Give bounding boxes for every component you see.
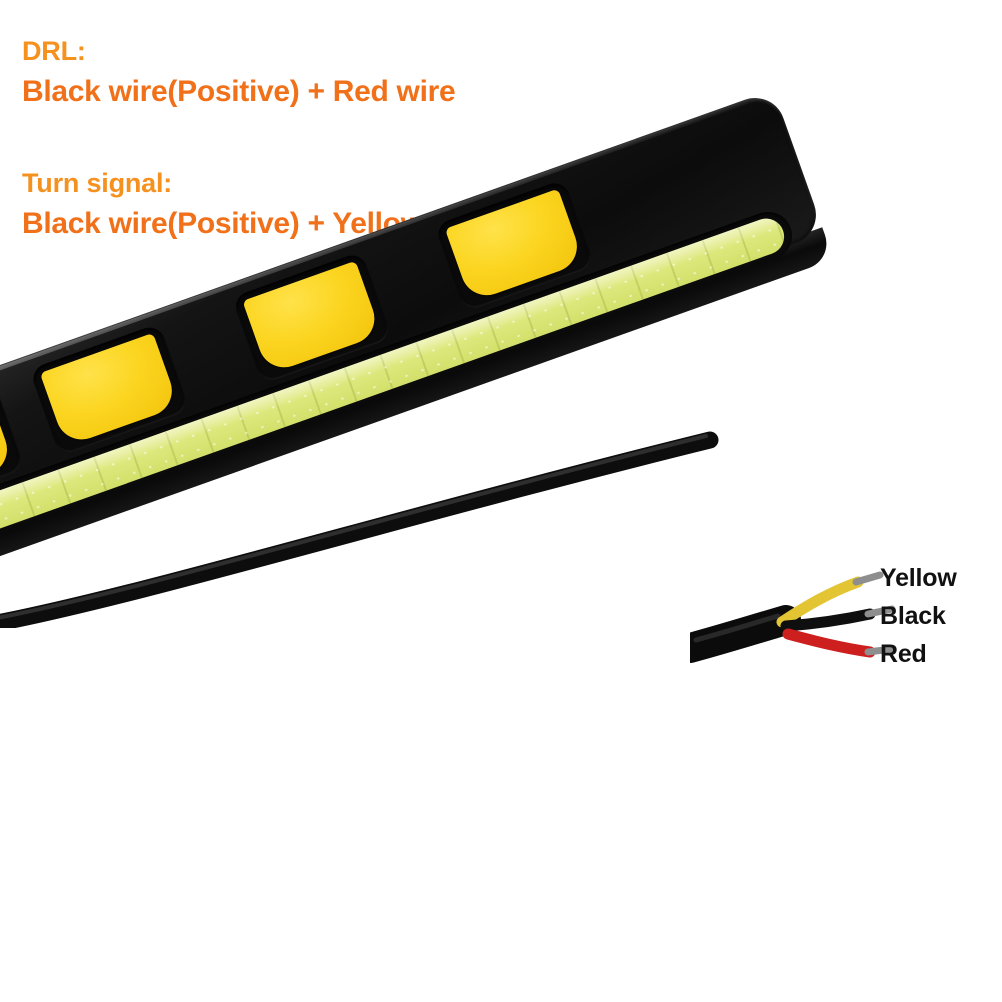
drl-heading: DRL: <box>22 38 722 65</box>
black-wire-label: Black <box>880 604 946 629</box>
red-wire-label: Red <box>880 642 927 667</box>
yellow-wire-label: Yellow <box>880 566 957 591</box>
yellow-wire-conductor-tip <box>856 575 880 582</box>
cable-sheath-core <box>0 440 710 624</box>
cable-sheath-end <box>690 620 786 648</box>
red-wire <box>788 634 870 652</box>
product-image-canvas: DRL: Black wire(Positive) + Red wire Tur… <box>0 0 1002 1002</box>
cable-highlight <box>0 436 706 619</box>
drl-wiring-detail: Black wire(Positive) + Red wire <box>22 77 722 107</box>
power-cable <box>0 418 780 628</box>
